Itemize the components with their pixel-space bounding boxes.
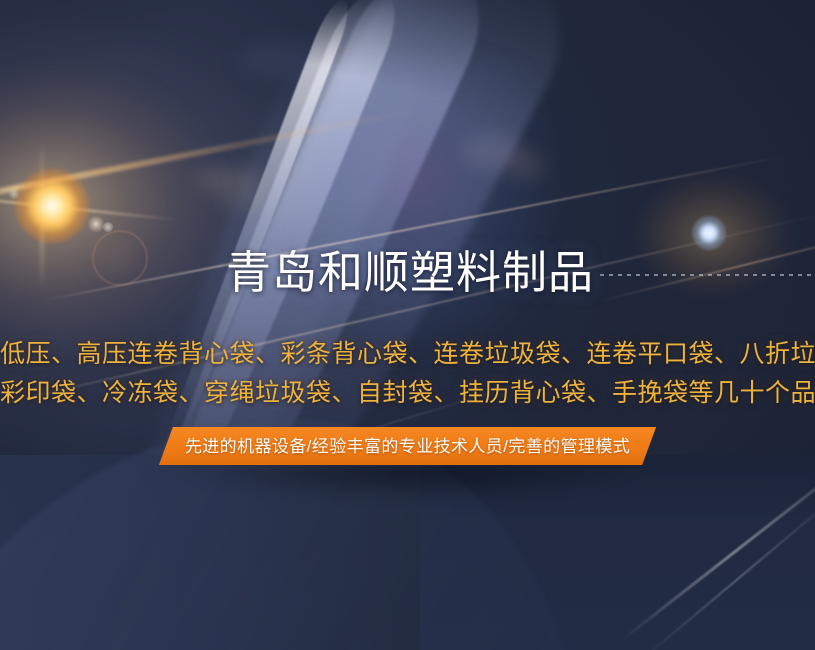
product-line-1: 低压、高压连卷背心袋、彩条背心袋、连卷垃圾袋、连卷平口袋、八折垃圾袋、	[0, 335, 815, 374]
title-dashed-rule	[600, 274, 815, 276]
promo-banner: 青岛和顺塑料制品 低压、高压连卷背心袋、彩条背心袋、连卷垃圾袋、连卷平口袋、八折…	[0, 0, 815, 650]
title-row: 青岛和顺塑料制品	[0, 250, 815, 295]
page-title: 青岛和顺塑料制品	[226, 250, 594, 295]
ribbon-tail-left	[159, 465, 173, 474]
product-line-2: 彩印袋、冷冻袋、穿绳垃圾袋、自封袋、挂历背心袋、手挽袋等几十个品种	[0, 374, 815, 413]
ribbon-drop-shadow	[172, 466, 642, 500]
tagline-ribbon-wrap: 先进的机器设备/经验丰富的专业技术人员/完善的管理模式	[0, 427, 815, 465]
product-list: 低压、高压连卷背心袋、彩条背心袋、连卷垃圾袋、连卷平口袋、八折垃圾袋、 彩印袋、…	[0, 335, 815, 413]
banner-content: 青岛和顺塑料制品 低压、高压连卷背心袋、彩条背心袋、连卷垃圾袋、连卷平口袋、八折…	[0, 0, 815, 650]
ribbon-tail-right	[642, 465, 656, 474]
tagline-text: 先进的机器设备/经验丰富的专业技术人员/完善的管理模式	[185, 438, 630, 455]
tagline-ribbon: 先进的机器设备/经验丰富的专业技术人员/完善的管理模式	[159, 427, 656, 465]
